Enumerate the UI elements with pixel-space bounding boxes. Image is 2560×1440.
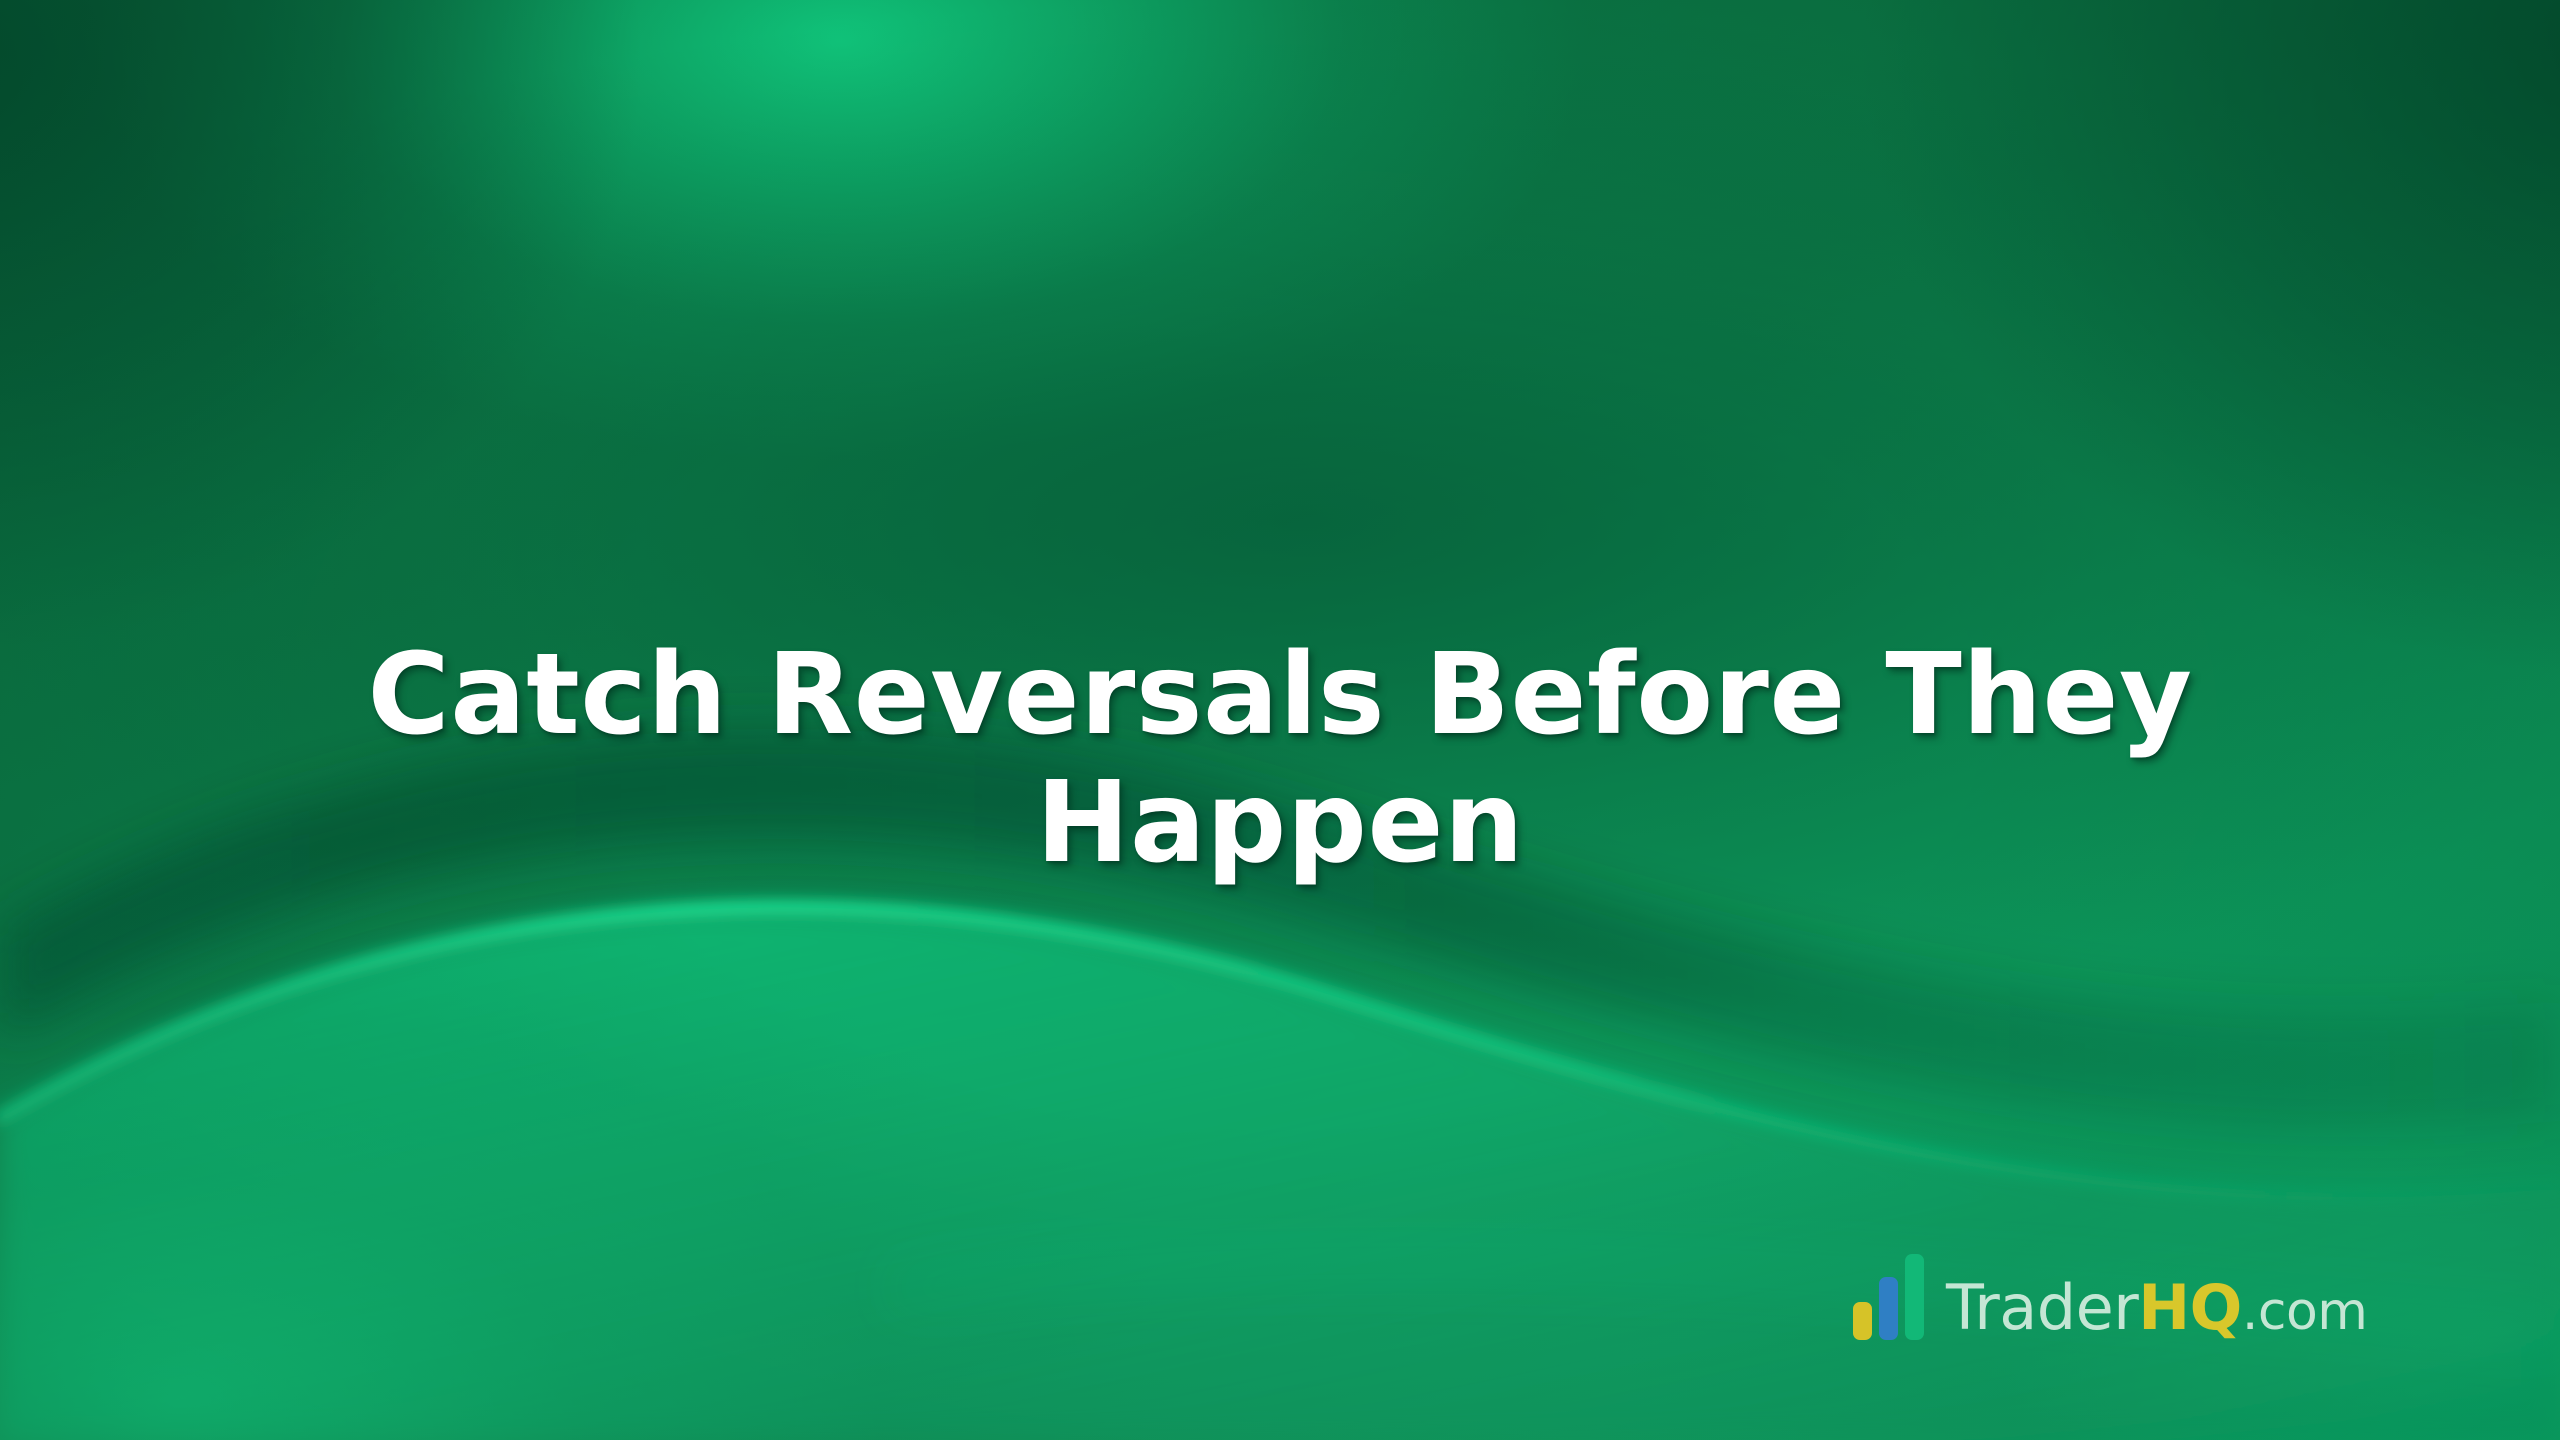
logo-bar-yellow	[1853, 1302, 1872, 1340]
logo-wordmark: TraderHQ.com	[1946, 1276, 2367, 1344]
wave-body	[0, 908, 2560, 1440]
logo-bar-green	[1905, 1254, 1924, 1340]
bar-chart-icon	[1853, 1256, 1924, 1340]
logo-text-trader: Trader	[1946, 1276, 2138, 1340]
wave-highlight-edge	[0, 908, 2560, 1197]
logo-text-hq: HQ	[2138, 1276, 2242, 1340]
logo-text-com: .com	[2242, 1280, 2368, 1344]
logo-bar-blue	[1879, 1277, 1898, 1340]
traderhq-logo[interactable]: TraderHQ.com	[1853, 1250, 2367, 1346]
page-title: Catch Reversals Before They Happen	[0, 631, 2560, 887]
banner-image: Catch Reversals Before They Happen Trade…	[0, 0, 2560, 1440]
